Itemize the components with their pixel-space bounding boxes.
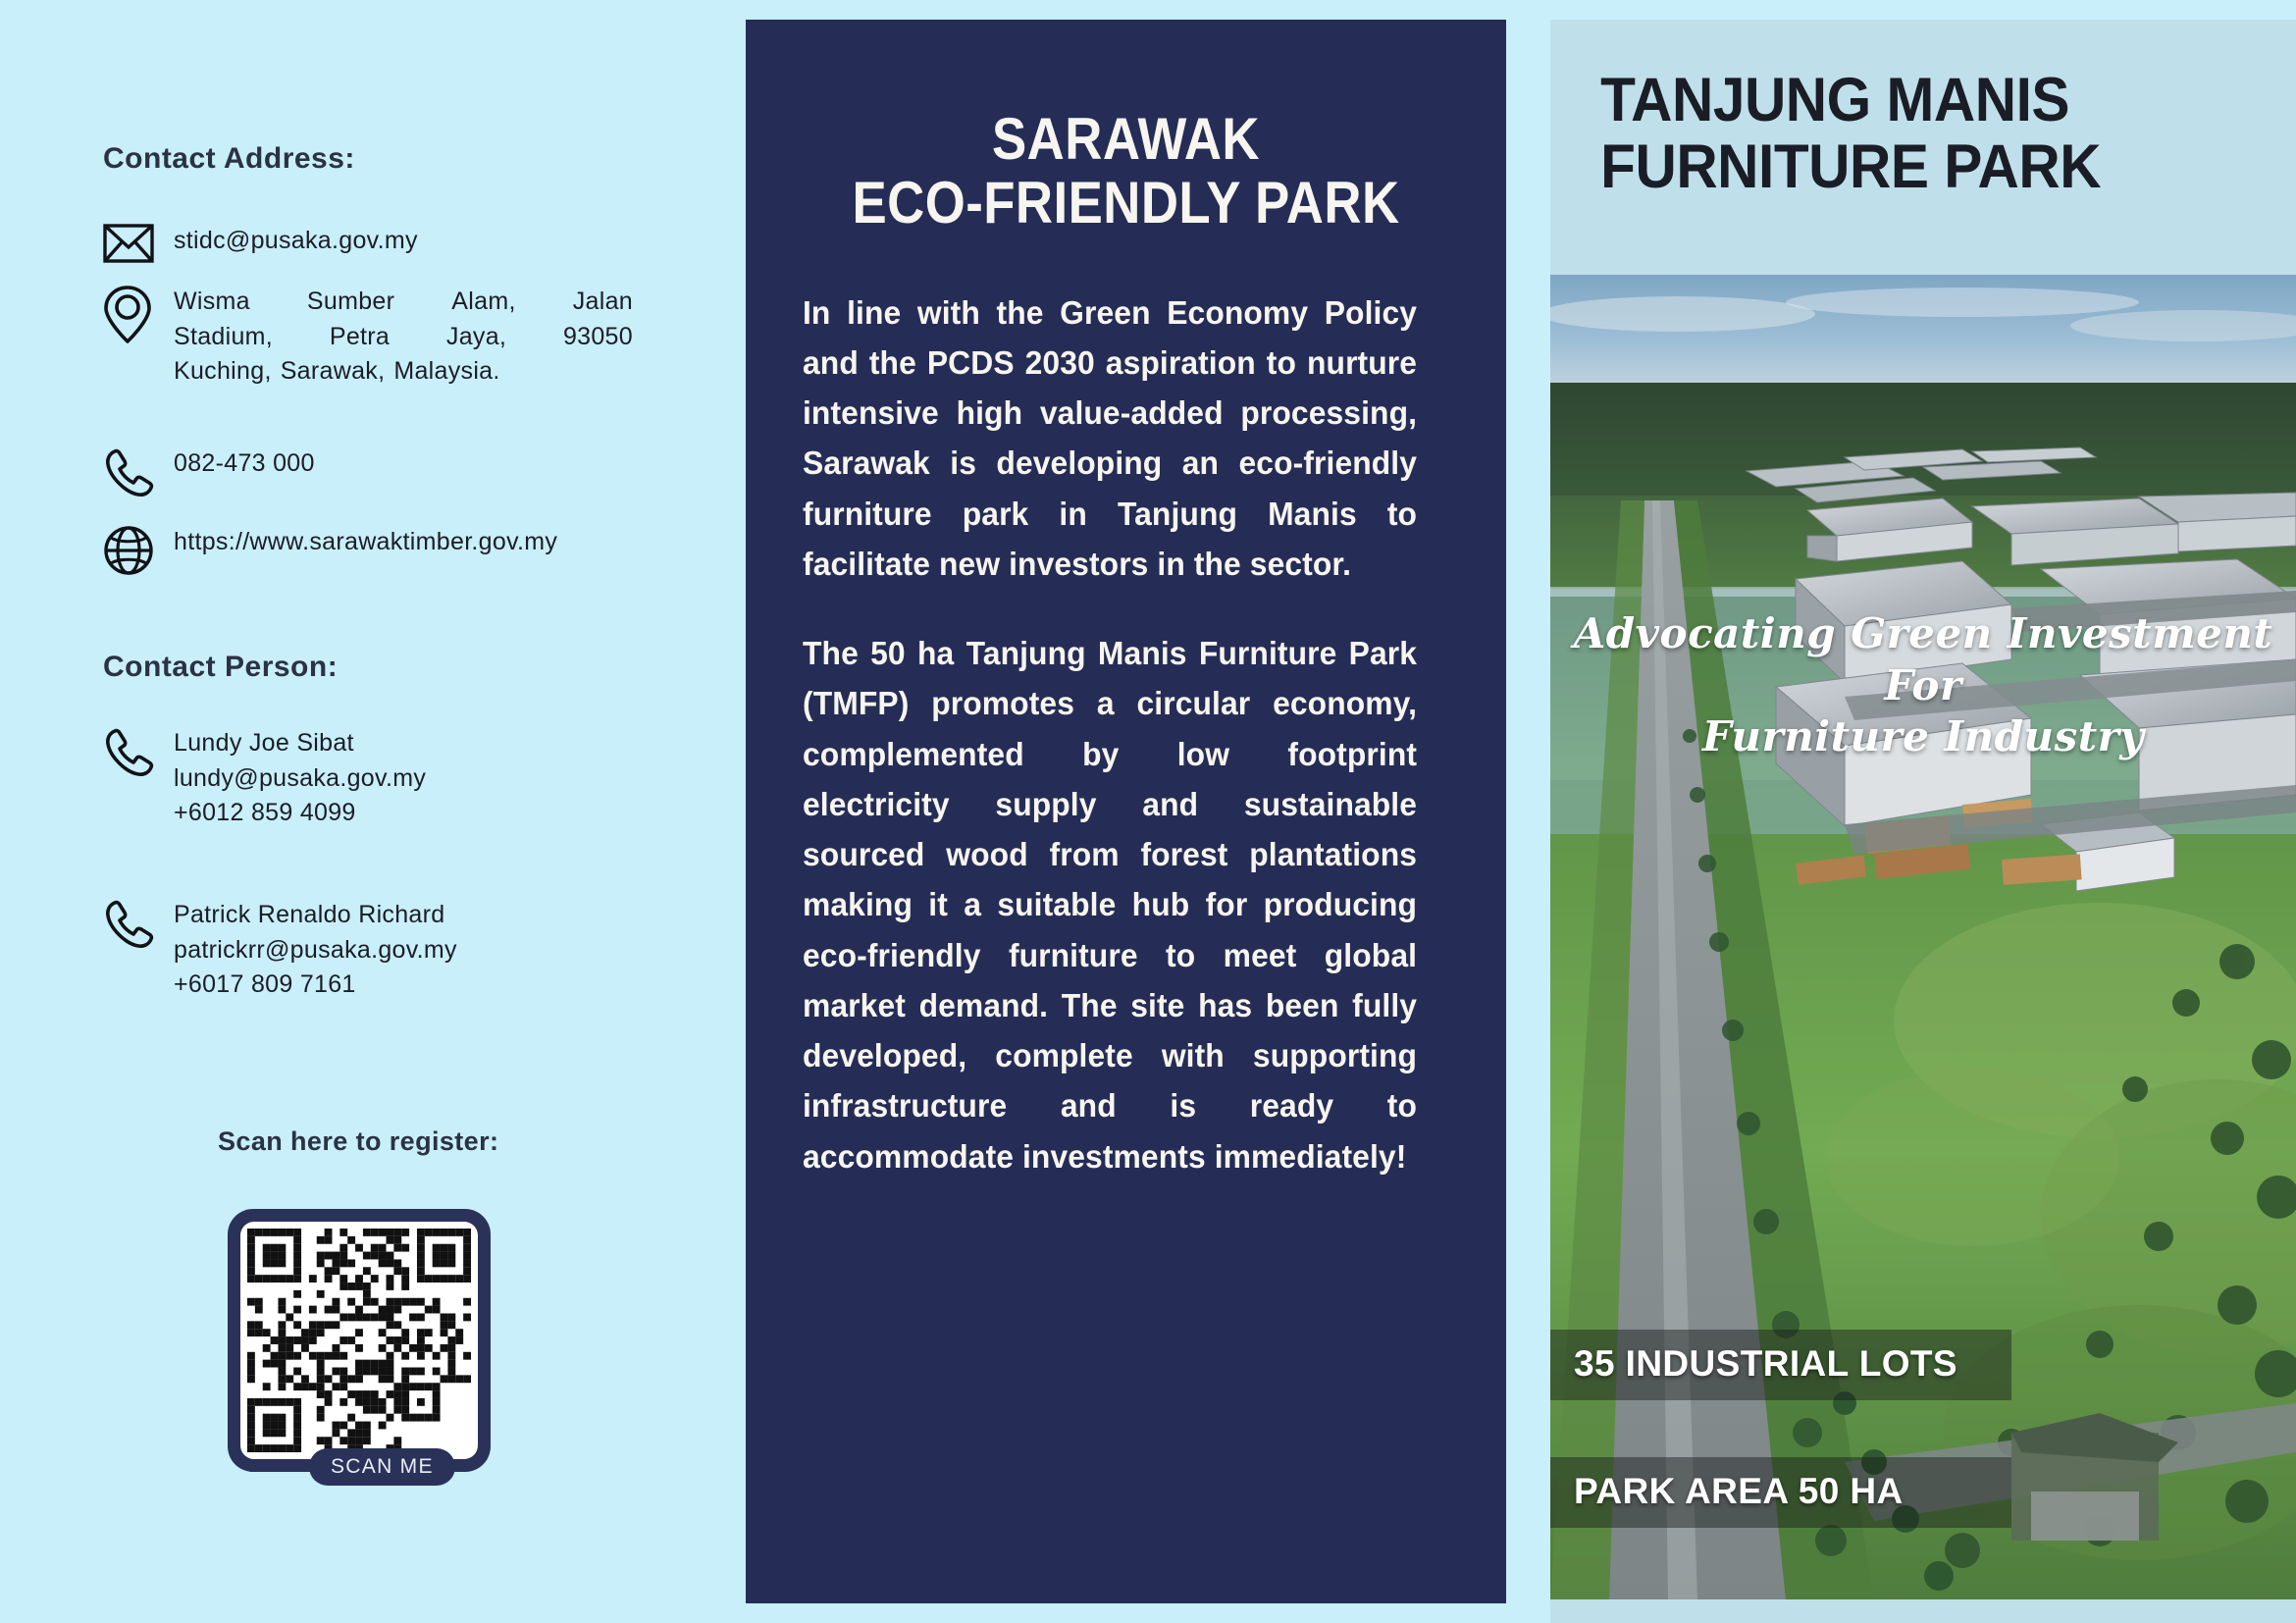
phone-icon <box>103 446 174 499</box>
contact-person-row: Patrick Renaldo Richard patrickrr@pusaka… <box>103 898 457 1003</box>
envelope-icon <box>103 224 174 263</box>
industrial-lots-label: 35 INDUSTRIAL LOTS <box>1550 1330 2011 1400</box>
aerial-photo-illustration <box>1550 275 2296 1599</box>
scan-me-badge: SCAN ME <box>309 1448 455 1486</box>
contact-email-row: stidc@pusaka.gov.my <box>103 224 418 263</box>
cover-title-line-2: FURNITURE PARK <box>1600 133 2244 200</box>
center-title: SARAWAK ECO-FRIENDLY PARK <box>842 108 1411 236</box>
qr-code[interactable] <box>228 1209 491 1472</box>
description-paragraph-2: The 50 ha Tanjung Manis Furniture Park (… <box>803 629 1417 1182</box>
globe-icon <box>103 525 174 576</box>
contact-phone-row: 082-473 000 <box>103 446 315 499</box>
phone-icon <box>103 726 174 779</box>
center-title-line-1: SARAWAK <box>992 106 1260 172</box>
cover-title-line-1: TANJUNG MANIS <box>1600 66 2069 134</box>
contact-address-row: Wisma Sumber Alam, Jalan Stadium, Petra … <box>103 285 633 390</box>
contact-website-value[interactable]: https://www.sarawaktimber.gov.my <box>174 525 557 560</box>
contact-address-value: Wisma Sumber Alam, Jalan Stadium, Petra … <box>174 285 633 390</box>
person-email[interactable]: lundy@pusaka.gov.my <box>174 761 426 797</box>
center-title-line-2: ECO-FRIENDLY PARK <box>842 172 1411 236</box>
cover-tagline-line-2: Furniture Industry <box>1550 711 2296 763</box>
contact-person-heading: Contact Person: <box>103 651 338 684</box>
cover-title: TANJUNG MANIS FURNITURE PARK <box>1550 20 2244 200</box>
park-area-label: PARK AREA 50 HA <box>1550 1457 2011 1528</box>
contact-person-row: Lundy Joe Sibat lundy@pusaka.gov.my +601… <box>103 726 426 831</box>
person-email[interactable]: patrickrr@pusaka.gov.my <box>174 933 457 969</box>
contact-address-heading: Contact Address: <box>103 142 355 176</box>
address-line: Stadium, Petra Jaya, 93050 <box>174 320 633 355</box>
location-pin-icon <box>103 285 174 345</box>
contact-person-details: Lundy Joe Sibat lundy@pusaka.gov.my +601… <box>174 726 426 831</box>
description-panel: SARAWAK ECO-FRIENDLY PARK In line with t… <box>746 20 1506 1603</box>
aerial-photo <box>1550 275 2296 1599</box>
contact-email-value[interactable]: stidc@pusaka.gov.my <box>174 224 418 259</box>
person-phone[interactable]: +6012 859 4099 <box>174 796 426 831</box>
phone-icon <box>103 898 174 951</box>
cover-tagline: Advocating Green Investment For Furnitur… <box>1550 608 2296 763</box>
contact-phone-value[interactable]: 082-473 000 <box>174 446 315 482</box>
contact-person-details: Patrick Renaldo Richard patrickrr@pusaka… <box>174 898 457 1003</box>
cover-panel: TANJUNG MANIS FURNITURE PARK <box>1550 20 2296 1623</box>
address-line: Kuching, Sarawak, Malaysia. <box>174 354 633 390</box>
scan-here-label: Scan here to register: <box>218 1126 498 1157</box>
person-name: Lundy Joe Sibat <box>174 726 426 761</box>
cover-tagline-line-1: Advocating Green Investment For <box>1574 609 2273 709</box>
contact-website-row: https://www.sarawaktimber.gov.my <box>103 525 557 576</box>
address-line: Wisma Sumber Alam, Jalan <box>174 285 633 320</box>
qr-modules <box>247 1229 471 1452</box>
person-phone[interactable]: +6017 809 7161 <box>174 968 457 1003</box>
contact-panel: Contact Address: stidc@pusaka.gov.my Wis… <box>0 0 746 1623</box>
qr-code-image <box>240 1222 478 1459</box>
person-name: Patrick Renaldo Richard <box>174 898 457 933</box>
description-paragraph-1: In line with the Green Economy Policy an… <box>803 288 1417 591</box>
